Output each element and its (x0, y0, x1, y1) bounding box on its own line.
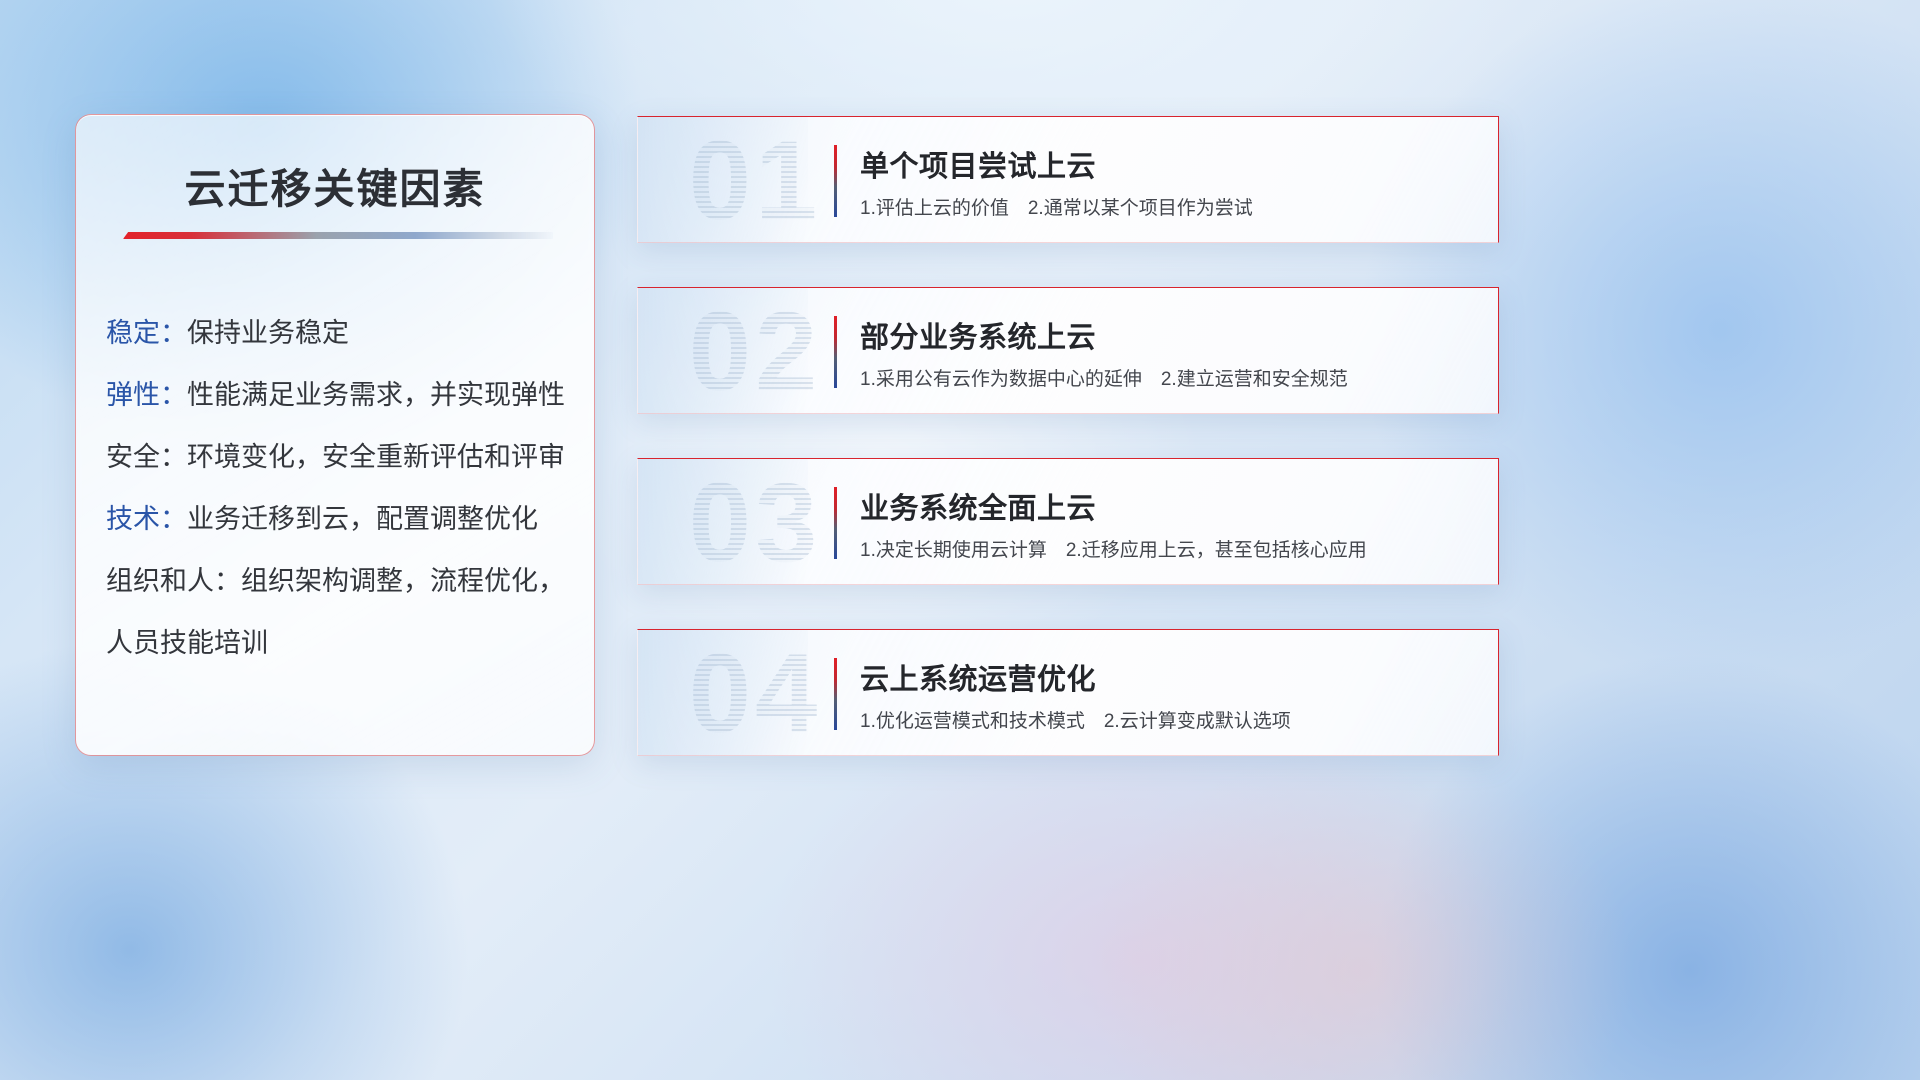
accent-bar (834, 487, 837, 559)
stage-description: 1.优化运营模式和技术模式 2.云计算变成默认选项 (860, 706, 1291, 733)
title-underline-rule (123, 232, 553, 239)
key-factor-text: 环境变化，安全重新评估和评审 (187, 442, 565, 472)
key-factor-text: 人员技能培训 (106, 628, 268, 658)
stage-card[interactable]: 01单个项目尝试上云1.评估上云的价值 2.通常以某个项目作为尝试 (637, 116, 1499, 243)
stage-title: 云上系统运营优化 (860, 656, 1096, 698)
stage-description: 1.评估上云的价值 2.通常以某个项目作为尝试 (860, 193, 1253, 220)
accent-bar (834, 145, 837, 217)
accent-bar (834, 658, 837, 730)
key-factor-label: 技术： (106, 504, 187, 534)
stage-title: 业务系统全面上云 (860, 485, 1096, 527)
key-factor-label: 稳定： (106, 318, 187, 348)
key-factor-label: 安全： (106, 442, 187, 472)
key-factor-row: 人员技能培训 (106, 625, 576, 661)
key-factor-text: 组织架构调整，流程优化， (241, 566, 565, 596)
stage-card[interactable]: 03业务系统全面上云1.决定长期使用云计算 2.迁移应用上云，甚至包括核心应用 (637, 458, 1499, 585)
key-factor-text: 性能满足业务需求，并实现弹性 (187, 380, 565, 410)
key-factor-text: 业务迁移到云，配置调整优化 (187, 504, 538, 534)
stage-number: 01 (660, 116, 850, 243)
key-factor-label: 弹性： (106, 380, 187, 410)
key-factor-row: 弹性：性能满足业务需求，并实现弹性 (106, 377, 576, 413)
stage-description: 1.决定长期使用云计算 2.迁移应用上云，甚至包括核心应用 (860, 535, 1367, 562)
stage-number: 03 (660, 458, 850, 585)
stage-number: 04 (660, 629, 850, 756)
key-factor-row: 安全：环境变化，安全重新评估和评审 (106, 439, 576, 475)
key-factor-row: 稳定：保持业务稳定 (106, 315, 576, 351)
stage-card[interactable]: 02部分业务系统上云1.采用公有云作为数据中心的延伸 2.建立运营和安全规范 (637, 287, 1499, 414)
stage-card[interactable]: 04云上系统运营优化1.优化运营模式和技术模式 2.云计算变成默认选项 (637, 629, 1499, 756)
stage-title: 单个项目尝试上云 (860, 143, 1096, 185)
accent-bar (834, 316, 837, 388)
key-factors-panel: 云迁移关键因素 稳定：保持业务稳定弹性：性能满足业务需求，并实现弹性安全：环境变… (75, 114, 595, 756)
stage-title: 部分业务系统上云 (860, 314, 1096, 356)
stage-description: 1.采用公有云作为数据中心的延伸 2.建立运营和安全规范 (860, 364, 1348, 391)
key-factor-label: 组织和人： (106, 566, 241, 596)
stage-number: 02 (660, 287, 850, 414)
key-factor-row: 技术：业务迁移到云，配置调整优化 (106, 501, 576, 537)
key-factor-text: 保持业务稳定 (187, 318, 349, 348)
page-title: 云迁移关键因素 (76, 155, 594, 215)
key-factor-row: 组织和人：组织架构调整，流程优化， (106, 563, 576, 599)
